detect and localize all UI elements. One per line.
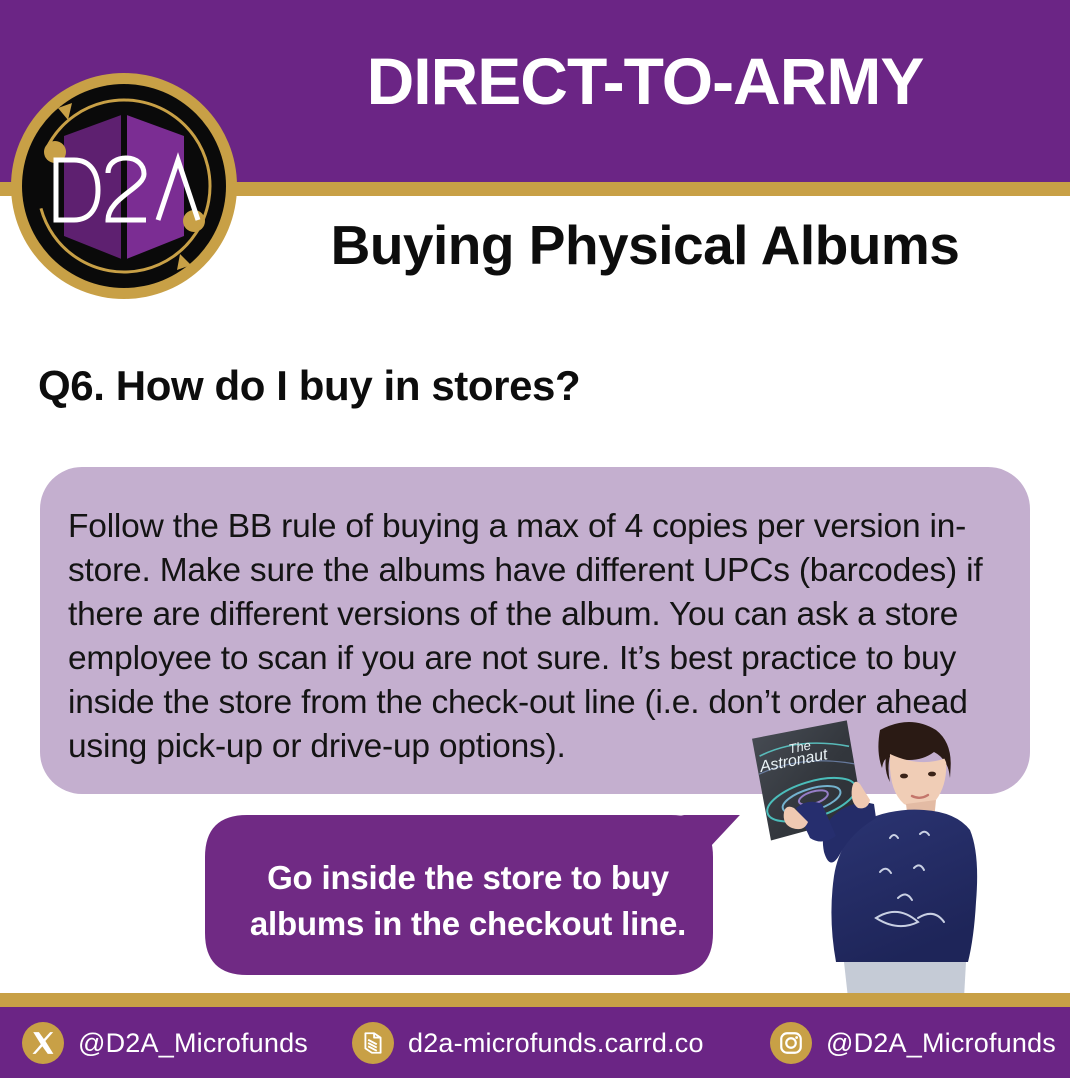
d2a-logo [8,70,240,302]
footer-website-label: d2a-microfunds.carrd.co [408,1028,704,1059]
footer-social-instagram-label: @D2A_Microfunds [826,1028,1056,1059]
page-subtitle: Buying Physical Albums [240,218,1050,273]
infographic-poster: DIRECT-TO-ARMY Buying Physical Albums Q6… [0,0,1070,1078]
footer-social-instagram[interactable]: @D2A_Microfunds [770,1022,1056,1064]
instagram-icon [770,1022,812,1064]
carrd-book-icon [352,1022,394,1064]
footer-gold-divider [0,993,1070,1007]
question-heading: Q6. How do I buy in stores? [38,362,580,410]
member-holding-album-photo: The Astronaut [748,712,986,1000]
footer-social-x[interactable]: @D2A_Microfunds [22,1022,308,1064]
footer-social-x-label: @D2A_Microfunds [78,1028,308,1059]
speech-bubble-text: Go inside the store to buy albums in the… [228,855,708,947]
x-twitter-icon [22,1022,64,1064]
page-title: DIRECT-TO-ARMY [240,48,1050,114]
footer-website-link[interactable]: d2a-microfunds.carrd.co [352,1022,704,1064]
